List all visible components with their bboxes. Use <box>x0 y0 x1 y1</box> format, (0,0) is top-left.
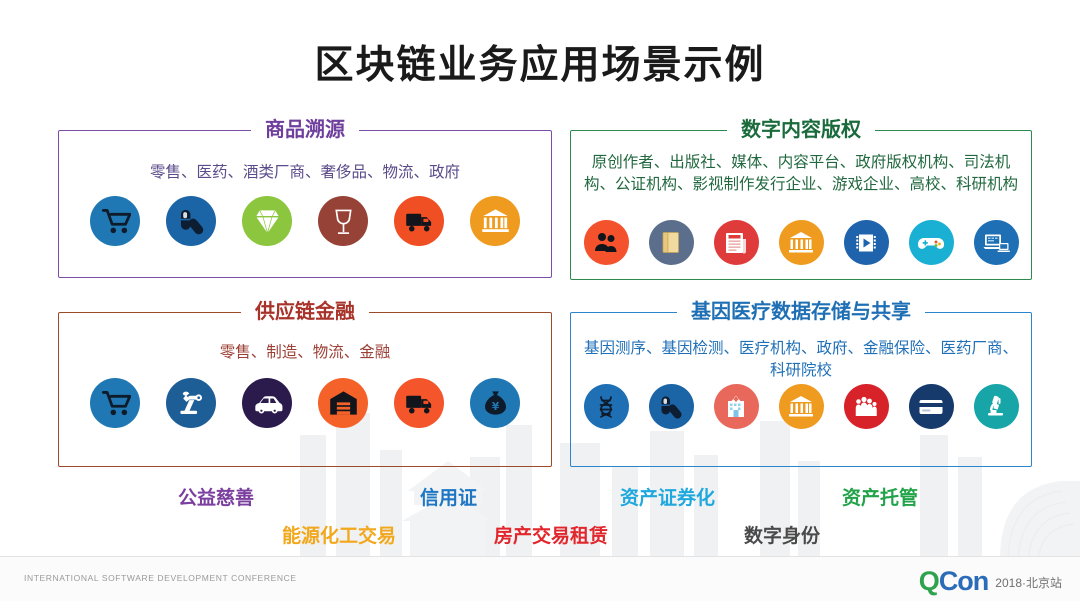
panel-title: 供应链金融 <box>58 300 552 324</box>
pills-icon[interactable] <box>649 384 694 429</box>
svg-text:¥: ¥ <box>491 401 499 413</box>
diamond-icon[interactable] <box>242 196 292 246</box>
panel-title: 商品溯源 <box>58 118 552 142</box>
hospital-icon[interactable] <box>714 384 759 429</box>
panel-title-text: 基因医疗数据存储与共享 <box>677 300 925 324</box>
dna-icon[interactable] <box>584 384 629 429</box>
money-bag-icon[interactable]: ¥ <box>470 378 520 428</box>
wine-glass-icon[interactable] <box>318 196 368 246</box>
panel-subtitle: 原创作者、出版社、媒体、内容平台、政府版权机构、司法机构、公证机构、影视制作发行… <box>582 152 1020 196</box>
panel-title-text: 商品溯源 <box>251 118 359 142</box>
panel-supply-chain-finance: 供应链金融 零售、制造、物流、金融 ¥ <box>58 312 552 467</box>
computer-icon[interactable] <box>974 220 1019 265</box>
panel-gene-medical-data: 基因医疗数据存储与共享 基因测序、基因检测、医疗机构、政府、金融保险、医药厂商、… <box>570 312 1032 467</box>
footer-tagline: INTERNATIONAL SOFTWARE DEVELOPMENT CONFE… <box>24 573 297 583</box>
pills-icon[interactable] <box>166 196 216 246</box>
tag-label: 资产证券化 <box>620 483 715 510</box>
qcon-logo-con: Con <box>939 566 988 597</box>
delivery-truck-icon[interactable] <box>394 378 444 428</box>
bank-icon[interactable] <box>779 220 824 265</box>
tag-label: 资产托管 <box>842 483 918 510</box>
qcon-logo: Q Con 2018·北京站 <box>919 566 1062 597</box>
microscope-icon[interactable] <box>974 384 1019 429</box>
panel-digital-content-copyright: 数字内容版权 原创作者、出版社、媒体、内容平台、政府版权机构、司法机构、公证机构… <box>570 130 1032 280</box>
bank-icon[interactable] <box>470 196 520 246</box>
tag-label: 公益慈善 <box>178 483 254 510</box>
news-icon[interactable] <box>714 220 759 265</box>
tag-label: 信用证 <box>420 483 477 510</box>
book-icon[interactable] <box>649 220 694 265</box>
qcon-logo-q: Q <box>919 566 939 597</box>
tag-label: 数字身份 <box>744 521 820 548</box>
car-icon[interactable] <box>242 378 292 428</box>
panel-title: 基因医疗数据存储与共享 <box>570 300 1032 324</box>
shopping-cart-icon[interactable] <box>90 196 140 246</box>
video-film-icon[interactable] <box>844 220 889 265</box>
slide-canvas: 区块链业务应用场景示例 商品溯源 零售、医药、酒类厂商、奢侈品、物流、政府 数字… <box>0 0 1080 601</box>
credit-card-icon[interactable] <box>909 384 954 429</box>
gamepad-icon[interactable] <box>909 220 954 265</box>
delivery-truck-icon[interactable] <box>394 196 444 246</box>
tag-label: 房产交易租赁 <box>494 521 608 548</box>
icon-row: ¥ <box>58 378 552 428</box>
panel-title: 数字内容版权 <box>570 118 1032 142</box>
panel-title-text: 供应链金融 <box>241 300 369 324</box>
icon-row <box>570 220 1032 265</box>
page-title: 区块链业务应用场景示例 <box>0 34 1080 90</box>
family-icon[interactable] <box>844 384 889 429</box>
shopping-cart-icon[interactable] <box>90 378 140 428</box>
panel-subtitle: 基因测序、基因检测、医疗机构、政府、金融保险、医药厂商、科研院校 <box>582 338 1020 382</box>
icon-row <box>570 384 1032 429</box>
warehouse-icon[interactable] <box>318 378 368 428</box>
footer-bar: INTERNATIONAL SOFTWARE DEVELOPMENT CONFE… <box>0 556 1080 601</box>
bank-icon[interactable] <box>779 384 824 429</box>
icon-row <box>58 196 552 246</box>
panel-subtitle: 零售、医药、酒类厂商、奢侈品、物流、政府 <box>70 162 540 184</box>
panel-title-text: 数字内容版权 <box>727 118 875 142</box>
tag-label: 能源化工交易 <box>282 521 396 548</box>
panel-product-traceability: 商品溯源 零售、医药、酒类厂商、奢侈品、物流、政府 <box>58 130 552 278</box>
panel-subtitle: 零售、制造、物流、金融 <box>70 342 540 364</box>
qcon-logo-subtitle: 2018·北京站 <box>995 574 1062 591</box>
people-icon[interactable] <box>584 220 629 265</box>
robot-arm-icon[interactable] <box>166 378 216 428</box>
